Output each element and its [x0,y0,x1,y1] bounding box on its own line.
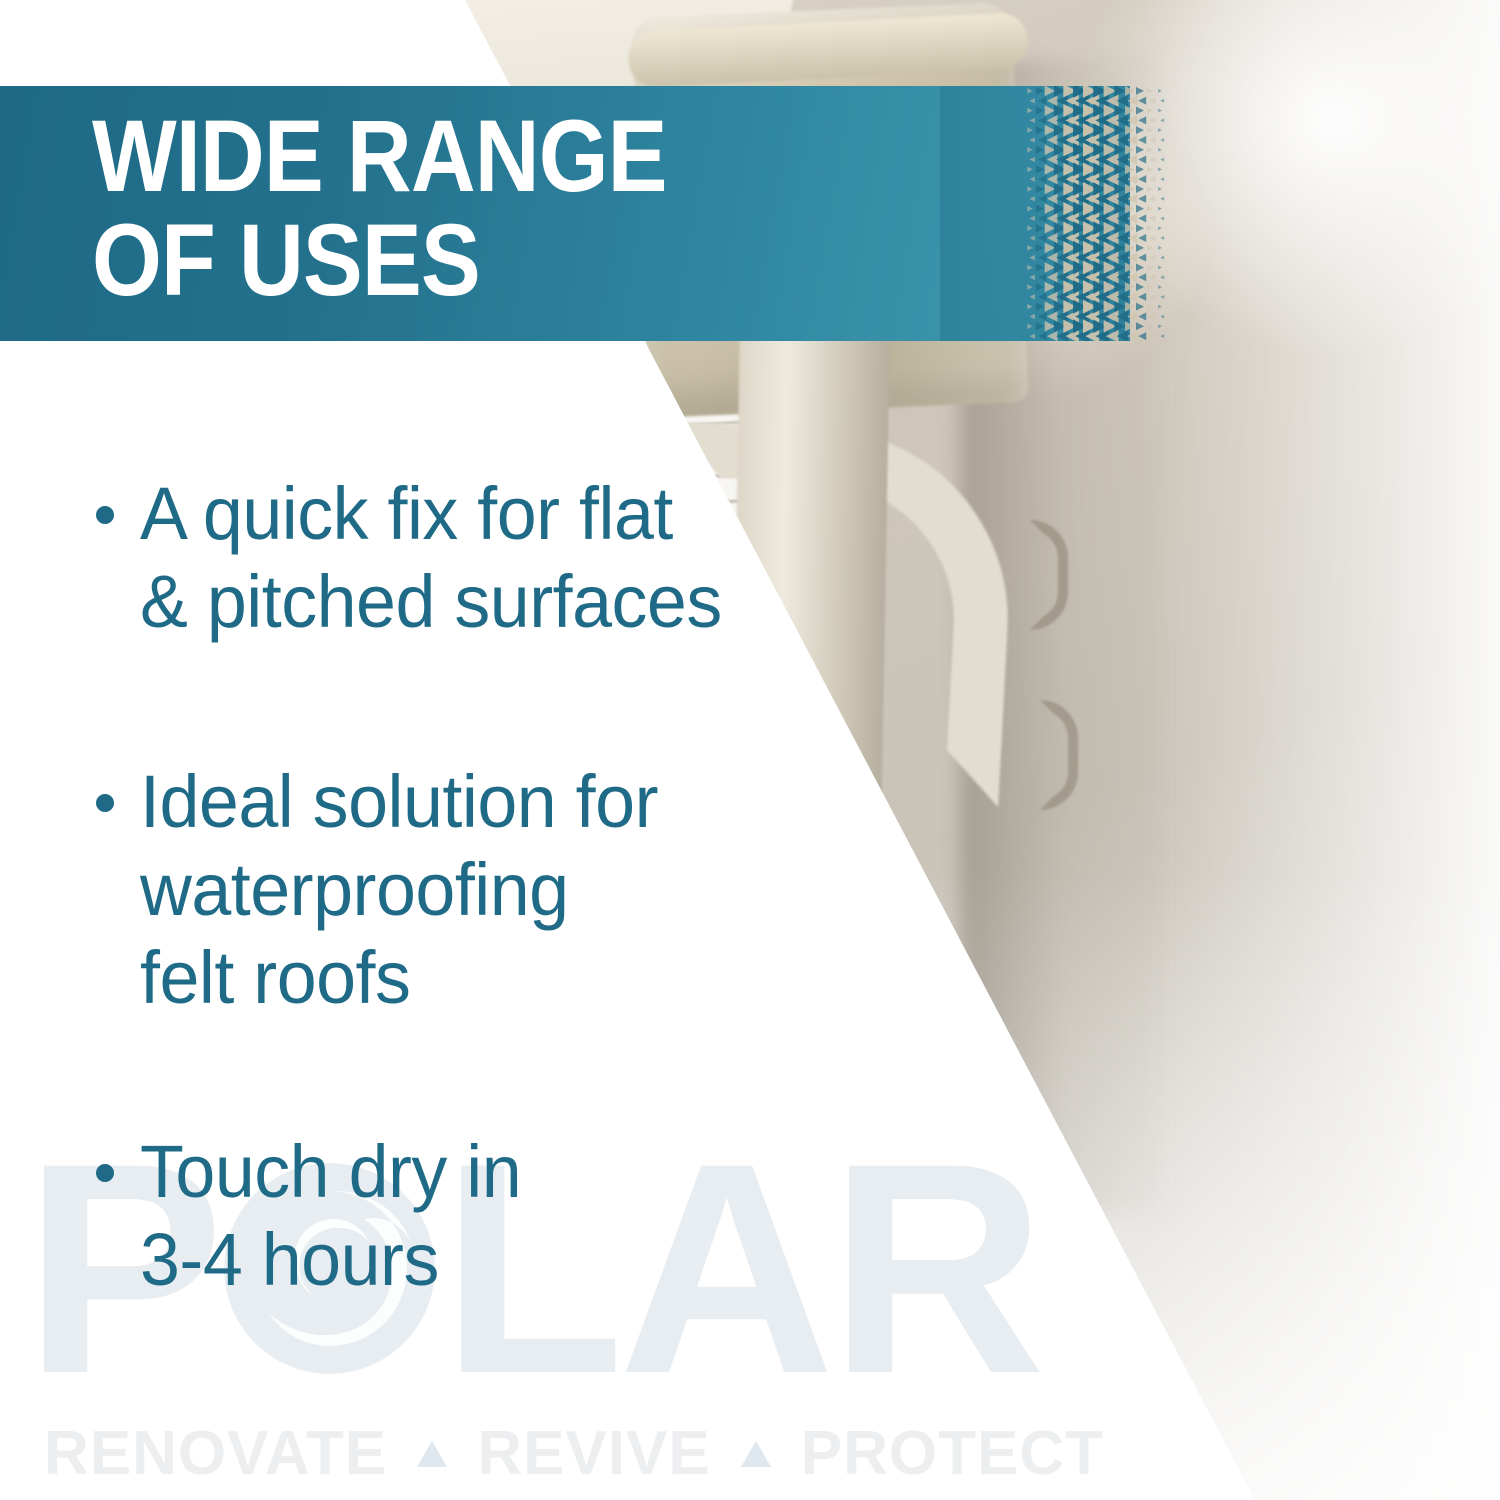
banner-right-fade [940,86,1130,341]
list-item-label: Ideal solution for waterproofing felt ro… [140,758,658,1022]
list-item: A quick fix for flat & pitched surfaces [96,470,1016,646]
bullet-dot-icon [96,1164,114,1182]
list-item: Touch dry in 3-4 hours [96,1128,1016,1304]
bullet-dot-icon [96,506,114,524]
list-item: Ideal solution for waterproofing felt ro… [96,758,1016,1022]
bullet-dot-icon [96,794,114,812]
list-item-label: A quick fix for flat & pitched surfaces [140,470,722,646]
page-title: WIDE RANGE OF USES [92,104,884,312]
feature-list: A quick fix for flat & pitched surfaces … [96,470,1016,1304]
list-item-label: Touch dry in 3-4 hours [140,1128,521,1304]
marketing-graphic: P LAR RENOVATE REVIVE PROTECT [0,0,1500,1500]
